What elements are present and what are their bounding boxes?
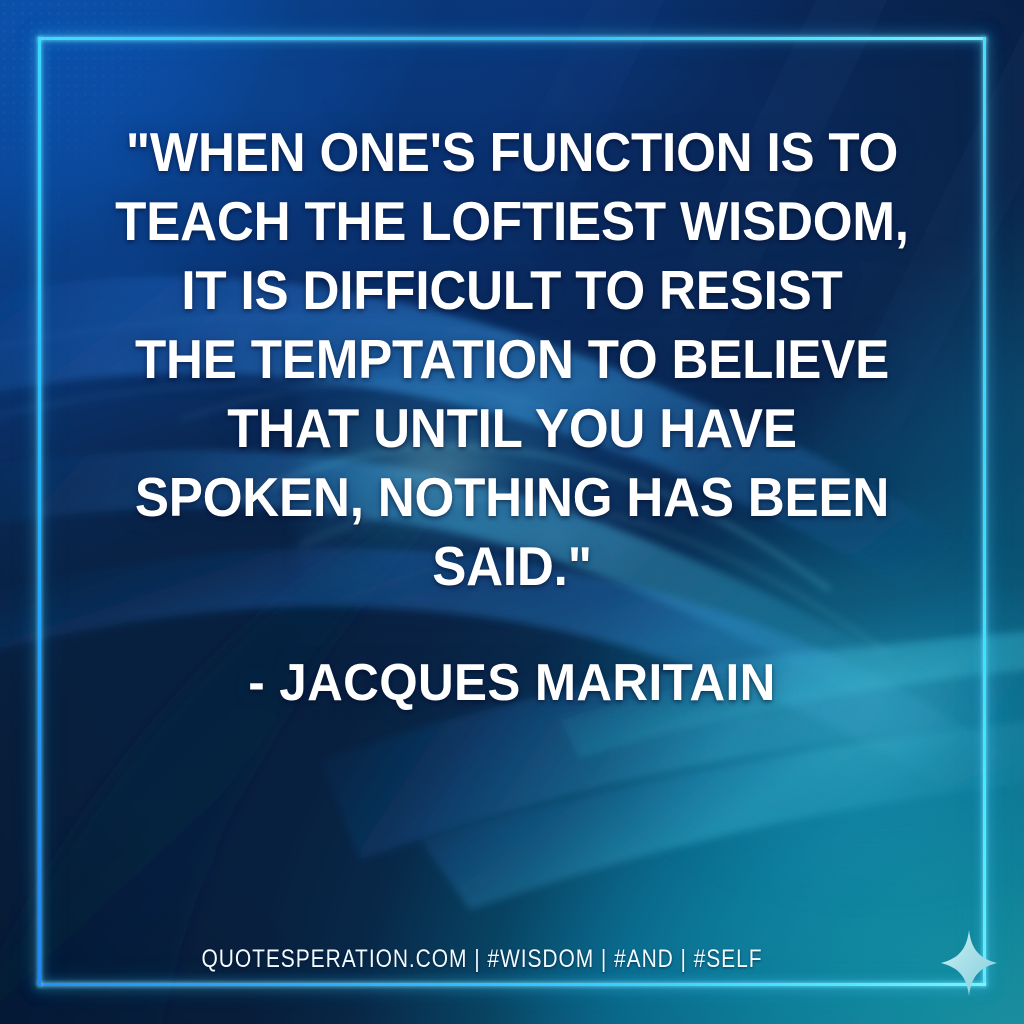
quote-line: THE TEMPTATION TO BELIEVE <box>103 325 921 394</box>
quote-text: "WHEN ONE'S FUNCTION IS TO TEACH THE LOF… <box>72 118 952 601</box>
quote-line: SPOKEN, NOTHING HAS BEEN <box>103 463 921 532</box>
quote-line: SAID." <box>103 532 921 601</box>
quote-attribution: - JACQUES MARITAIN <box>94 652 930 714</box>
quote-card-canvas: "WHEN ONE'S FUNCTION IS TO TEACH THE LOF… <box>0 0 1024 1024</box>
four-pointed-star-icon <box>941 930 997 996</box>
quote-line: IT IS DIFFICULT TO RESIST <box>103 256 921 325</box>
quote-line: TEACH THE LOFTIEST WISDOM, <box>103 187 921 256</box>
card-content: "WHEN ONE'S FUNCTION IS TO TEACH THE LOF… <box>0 0 1024 1024</box>
footer-credit: QUOTESPERATION.COM | #WISDOM | #AND | #S… <box>129 944 835 974</box>
quote-line: "WHEN ONE'S FUNCTION IS TO <box>103 118 921 187</box>
quote-line: THAT UNTIL YOU HAVE <box>103 394 921 463</box>
